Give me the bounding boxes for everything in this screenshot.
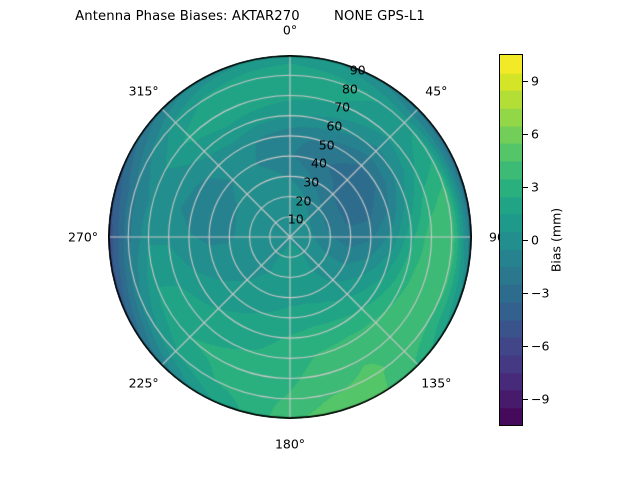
azimuth-tick-180: 180° xyxy=(275,437,305,452)
colorbar-ticklabel: 6 xyxy=(531,126,539,141)
colorbar-ticklabel: 0 xyxy=(531,233,539,248)
radial-tick-70: 70 xyxy=(334,100,350,115)
colorbar-tickmark xyxy=(523,346,528,347)
colorbar-ticklabel: −3 xyxy=(531,286,549,301)
radial-tick-10: 10 xyxy=(288,212,304,227)
radial-tick-50: 50 xyxy=(319,137,335,152)
radial-tick-30: 30 xyxy=(303,174,319,189)
azimuth-tick-270: 270° xyxy=(68,230,98,245)
azimuth-tick-0: 0° xyxy=(283,23,297,38)
colorbar-tickmark xyxy=(523,187,528,188)
colorbar-tickmark xyxy=(523,240,528,241)
radial-tick-40: 40 xyxy=(311,156,327,171)
colorbar-ticklabel: 3 xyxy=(531,179,539,194)
radial-tick-60: 60 xyxy=(326,118,342,133)
colorbar-ticklabel: 9 xyxy=(531,73,539,88)
colorbar-tickmark xyxy=(523,399,528,400)
colorbar-tickmark xyxy=(523,293,528,294)
figure-canvas: Antenna Phase Biases: AKTAR270 NONE GPS-… xyxy=(0,0,640,480)
colorbar-ticklabel: −9 xyxy=(531,392,549,407)
colorbar-tickmark xyxy=(523,81,528,82)
radial-tick-20: 20 xyxy=(296,193,312,208)
colorbar: 9630−3−6−9 xyxy=(499,54,523,426)
azimuth-tick-315: 315° xyxy=(129,83,159,98)
radial-tick-90: 90 xyxy=(350,62,366,77)
azimuth-tick-225: 225° xyxy=(129,376,159,391)
azimuth-tick-45: 45° xyxy=(425,83,447,98)
azimuth-tick-135: 135° xyxy=(421,376,451,391)
colorbar-gradient xyxy=(499,54,523,426)
radial-tick-80: 80 xyxy=(342,81,358,96)
polar-heatmap xyxy=(108,55,472,419)
figure-title: Antenna Phase Biases: AKTAR270 NONE GPS-… xyxy=(0,9,500,24)
colorbar-title: Bias (mm) xyxy=(549,208,564,272)
colorbar-ticklabel: −6 xyxy=(531,339,549,354)
colorbar-tickmark xyxy=(523,134,528,135)
polar-axes xyxy=(108,55,472,419)
